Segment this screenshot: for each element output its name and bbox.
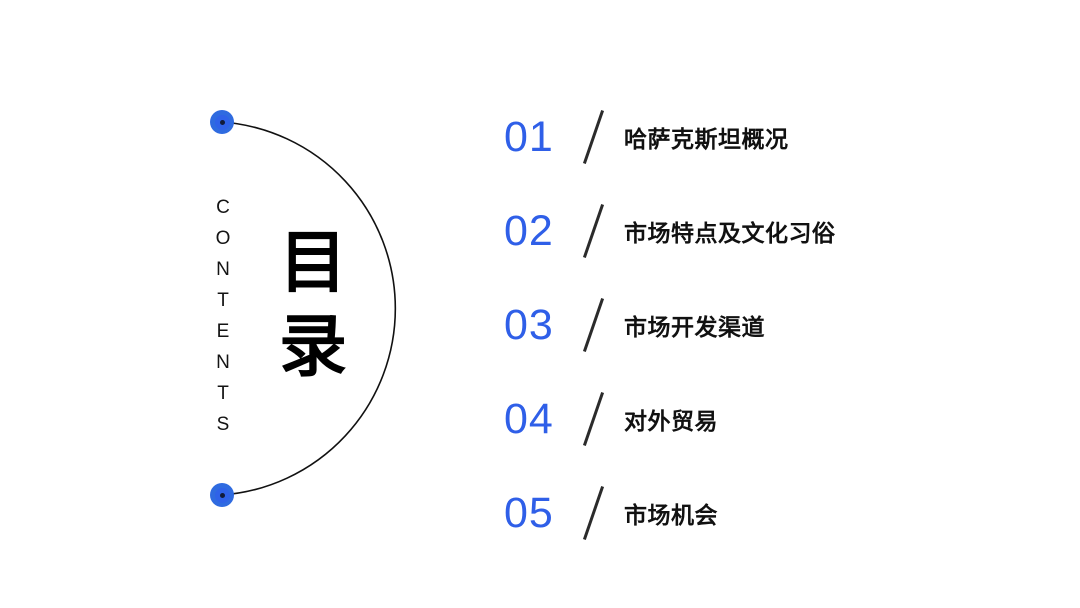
toc-label: 市场开发渠道 bbox=[622, 308, 765, 342]
slash-separator-icon bbox=[578, 203, 622, 259]
toc-item-02[interactable]: 02 市场特点及文化习俗 bbox=[504, 184, 1024, 278]
toc-item-04[interactable]: 04 对外贸易 bbox=[504, 372, 1024, 466]
toc-item-03[interactable]: 03 市场开发渠道 bbox=[504, 278, 1024, 372]
toc-label: 市场机会 bbox=[622, 496, 718, 530]
toc-list: 01 哈萨克斯坦概况 02 市场特点及文化习俗 03 市场开发渠道 04 对外贸… bbox=[504, 90, 1024, 560]
arc-endpoint-dot-bottom bbox=[210, 483, 234, 507]
toc-number: 04 bbox=[504, 398, 578, 441]
toc-item-05[interactable]: 05 市场机会 bbox=[504, 466, 1024, 560]
toc-label: 市场特点及文化习俗 bbox=[622, 214, 836, 248]
slash-separator-icon bbox=[578, 485, 622, 541]
toc-item-01[interactable]: 01 哈萨克斯坦概况 bbox=[504, 90, 1024, 184]
toc-label: 哈萨克斯坦概况 bbox=[622, 120, 789, 154]
toc-number: 03 bbox=[504, 304, 578, 347]
slide-canvas: C O N T E N T S 目 录 01 哈萨克斯坦概况 02 市场特点及文… bbox=[0, 0, 1080, 608]
toc-number: 05 bbox=[504, 492, 578, 535]
slash-separator-icon bbox=[578, 297, 622, 353]
slash-separator-icon bbox=[578, 109, 622, 165]
toc-number: 01 bbox=[504, 116, 578, 159]
page-title: 目 录 bbox=[258, 222, 368, 390]
toc-number: 02 bbox=[504, 210, 578, 253]
contents-graphic: C O N T E N T S 目 录 bbox=[150, 80, 470, 540]
contents-vertical-label: C O N T E N T S bbox=[206, 192, 240, 440]
toc-label: 对外贸易 bbox=[622, 402, 718, 436]
arc-endpoint-dot-top bbox=[210, 110, 234, 134]
slash-separator-icon bbox=[578, 391, 622, 447]
